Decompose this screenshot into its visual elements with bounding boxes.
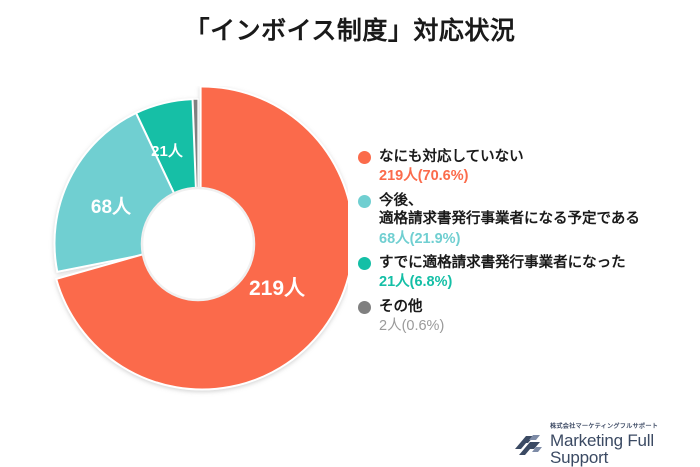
legend-item-other[interactable]: その他 2人(0.6%) [358, 298, 698, 336]
legend-dot-icon [358, 195, 371, 208]
company-logo: 株式会社マーケティングフルサポート Marketing Full Support [513, 424, 700, 466]
page-title: 「インボイス制度」対応状況 [0, 11, 700, 47]
legend-item-planned[interactable]: 今後、 適格請求書発行事業者になる予定である 68人(21.9%) [358, 192, 698, 248]
donut-chart: 219人 68人 21人 [48, 86, 348, 398]
legend-value-planned: 68人(21.9%) [379, 230, 698, 248]
legend-dot-icon [358, 301, 371, 314]
legend-label-no-action: なにも対応していない [379, 148, 698, 166]
slice-label-planned: 68人 [91, 196, 132, 218]
donut-chart-svg: 219人 68人 21人 [48, 86, 348, 398]
legend-value-already: 21人(6.8%) [379, 273, 698, 291]
legend-label-other: その他 [379, 298, 698, 316]
legend-item-no-action[interactable]: なにも対応していない 219人(70.6%) [358, 148, 698, 186]
legend-value-no-action: 219人(70.6%) [379, 167, 698, 185]
chart-legend: なにも対応していない 219人(70.6%) 今後、 適格請求書発行事業者になる… [358, 148, 698, 342]
legend-value-other: 2人(0.6%) [379, 317, 698, 335]
legend-item-already[interactable]: すでに適格請求書発行事業者になった 21人(6.8%) [358, 254, 698, 292]
legend-label-already: すでに適格請求書発行事業者になった [379, 254, 698, 272]
slice-label-no-action: 219人 [249, 277, 305, 300]
donut-hole [142, 188, 254, 300]
logo-company-name-en: Marketing Full Support [550, 432, 700, 466]
legend-dot-icon [358, 151, 371, 164]
logo-company-name-jp: 株式会社マーケティングフルサポート [550, 424, 700, 430]
legend-dot-icon [358, 257, 371, 270]
legend-label-planned: 今後、 適格請求書発行事業者になる予定である [379, 192, 698, 229]
slice-label-already: 21人 [151, 143, 184, 160]
logo-mark-icon [513, 433, 543, 458]
